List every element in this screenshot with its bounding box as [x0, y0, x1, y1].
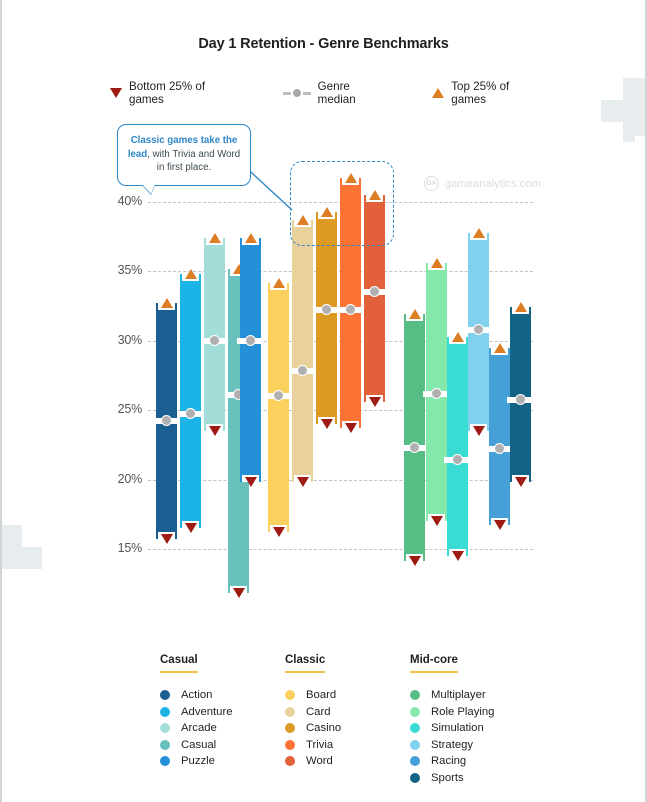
triangle-down-icon — [369, 397, 381, 407]
legend-item-label: Board — [306, 689, 336, 701]
legend-item-adventure[interactable]: Adventure — [160, 704, 285, 721]
legend-item-action[interactable]: Action — [160, 687, 285, 704]
y-axis-tick-label: 20% — [104, 472, 142, 486]
median-marker-trivia — [345, 304, 356, 315]
legend-swatch-icon — [285, 707, 295, 717]
callout-annotation: Classic games take the lead, with Trivia… — [117, 124, 251, 186]
y-axis-tick-label: 15% — [104, 541, 142, 555]
range-bar-card[interactable] — [292, 220, 313, 482]
median-marker-adventure — [185, 408, 196, 419]
triangle-down-icon — [321, 419, 333, 429]
median-marker-arcade — [209, 335, 220, 346]
median-marker-racing — [494, 443, 505, 454]
y-axis-tick-label: 25% — [104, 402, 142, 416]
legend-item-word[interactable]: Word — [285, 753, 410, 770]
legend-swatch-icon — [410, 707, 420, 717]
range-bar-simulation[interactable] — [447, 337, 468, 556]
gameanalytics-logo-icon: GA — [424, 176, 439, 191]
triangle-up-icon — [494, 343, 506, 353]
legend-swatch-icon — [160, 690, 170, 700]
triangle-down-icon — [494, 520, 506, 530]
legend-item-label: Role Playing — [431, 706, 494, 718]
legend-swatch-icon — [285, 690, 295, 700]
legend-item-role-playing[interactable]: Role Playing — [410, 704, 550, 721]
legend-swatch-icon — [285, 740, 295, 750]
triangle-up-icon — [273, 278, 285, 288]
legend-item-casino[interactable]: Casino — [285, 720, 410, 737]
legend-group-title-classic: Classic — [285, 654, 325, 673]
legend-item-label: Strategy — [431, 739, 473, 751]
legend-swatch-icon — [410, 723, 420, 733]
triangle-down-icon — [345, 423, 357, 433]
legend-item-label: Card — [306, 706, 331, 718]
genre-legend: CasualActionAdventureArcadeCasualPuzzleC… — [160, 650, 550, 786]
legend-group-title-casual: Casual — [160, 654, 198, 673]
legend-item-label: Word — [306, 755, 333, 767]
legend-swatch-icon — [160, 723, 170, 733]
watermark-text: gameanalytics.com — [445, 178, 541, 190]
legend-item-card[interactable]: Card — [285, 704, 410, 721]
triangle-up-icon — [431, 258, 443, 268]
legend-item-simulation[interactable]: Simulation — [410, 720, 550, 737]
legend-swatch-icon — [410, 690, 420, 700]
legend-item-board[interactable]: Board — [285, 687, 410, 704]
range-bar-racing[interactable] — [489, 348, 510, 526]
legend-item-puzzle[interactable]: Puzzle — [160, 753, 285, 770]
legend-swatch-icon — [285, 723, 295, 733]
legend-item-list: BoardCardCasinoTriviaWord — [285, 687, 410, 770]
triangle-up-icon — [515, 302, 527, 312]
watermark: GA gameanalytics.com — [424, 176, 541, 191]
legend-column-casual: CasualActionAdventureArcadeCasualPuzzle — [160, 650, 285, 786]
legend-swatch-icon — [410, 756, 420, 766]
triangle-up-icon — [452, 332, 464, 342]
legend-item-sports[interactable]: Sports — [410, 770, 550, 787]
legend-item-list: ActionAdventureArcadeCasualPuzzle — [160, 687, 285, 770]
triangle-up-icon — [245, 233, 257, 243]
median-marker-multiplayer — [409, 442, 420, 453]
legend-item-racing[interactable]: Racing — [410, 753, 550, 770]
range-bar-multiplayer[interactable] — [404, 314, 425, 561]
median-marker-word — [369, 286, 380, 297]
legend-item-trivia[interactable]: Trivia — [285, 737, 410, 754]
legend-item-casual[interactable]: Casual — [160, 737, 285, 754]
range-bar-board[interactable] — [268, 283, 289, 533]
triangle-down-icon — [452, 551, 464, 561]
median-marker-role-playing — [431, 388, 442, 399]
median-marker-simulation — [452, 454, 463, 465]
triangle-up-icon — [161, 298, 173, 308]
triangle-up-icon — [185, 269, 197, 279]
legend-item-label: Casual — [181, 739, 216, 751]
range-bar-adventure[interactable] — [180, 274, 201, 528]
legend-swatch-icon — [160, 740, 170, 750]
median-marker-board — [273, 390, 284, 401]
median-marker-action — [161, 415, 172, 426]
legend-column-classic: ClassicBoardCardCasinoTriviaWord — [285, 650, 410, 786]
gridline — [148, 480, 533, 481]
legend-item-label: Casino — [306, 722, 341, 734]
legend-group-title-mid-core: Mid-core — [410, 654, 458, 673]
legend-swatch-icon — [160, 707, 170, 717]
median-marker-puzzle — [245, 335, 256, 346]
callout-tail — [142, 184, 155, 194]
legend-swatch-icon — [410, 740, 420, 750]
triangle-down-icon — [431, 516, 443, 526]
legend-item-list: MultiplayerRole PlayingSimulationStrateg… — [410, 687, 550, 786]
legend-swatch-icon — [410, 773, 420, 783]
median-marker-sports — [515, 394, 526, 405]
range-bar-puzzle[interactable] — [240, 238, 261, 482]
y-axis-tick-label: 35% — [104, 263, 142, 277]
legend-item-multiplayer[interactable]: Multiplayer — [410, 687, 550, 704]
y-axis-tick-label: 40% — [104, 194, 142, 208]
legend-item-label: Simulation — [431, 722, 484, 734]
triangle-down-icon — [161, 534, 173, 544]
callout-rest-text: , with Trivia and Word in first place. — [147, 149, 240, 174]
triangle-up-icon — [473, 228, 485, 238]
triangle-up-icon — [409, 309, 421, 319]
triangle-down-icon — [409, 556, 421, 566]
triangle-down-icon — [273, 527, 285, 537]
legend-item-label: Action — [181, 689, 212, 701]
legend-item-label: Arcade — [181, 722, 217, 734]
y-axis-tick-label: 30% — [104, 333, 142, 347]
legend-item-label: Trivia — [306, 739, 333, 751]
classic-group-highlight-box — [290, 161, 394, 246]
gridline — [148, 549, 533, 550]
legend-column-mid-core: Mid-coreMultiplayerRole PlayingSimulatio… — [410, 650, 550, 786]
triangle-down-icon — [185, 523, 197, 533]
median-marker-casino — [321, 304, 332, 315]
legend-item-label: Multiplayer — [431, 689, 486, 701]
triangle-down-icon — [245, 477, 257, 487]
median-marker-card — [297, 365, 308, 376]
triangle-down-icon — [233, 588, 245, 598]
triangle-down-icon — [473, 426, 485, 436]
triangle-up-icon — [209, 233, 221, 243]
triangle-down-icon — [297, 477, 309, 487]
legend-item-label: Puzzle — [181, 755, 215, 767]
triangle-down-icon — [209, 426, 221, 436]
median-marker-strategy — [473, 324, 484, 335]
legend-item-label: Sports — [431, 772, 464, 784]
legend-swatch-icon — [160, 756, 170, 766]
triangle-down-icon — [515, 477, 527, 487]
legend-item-arcade[interactable]: Arcade — [160, 720, 285, 737]
legend-item-label: Racing — [431, 755, 466, 767]
legend-swatch-icon — [285, 756, 295, 766]
legend-item-label: Adventure — [181, 706, 233, 718]
legend-item-strategy[interactable]: Strategy — [410, 737, 550, 754]
